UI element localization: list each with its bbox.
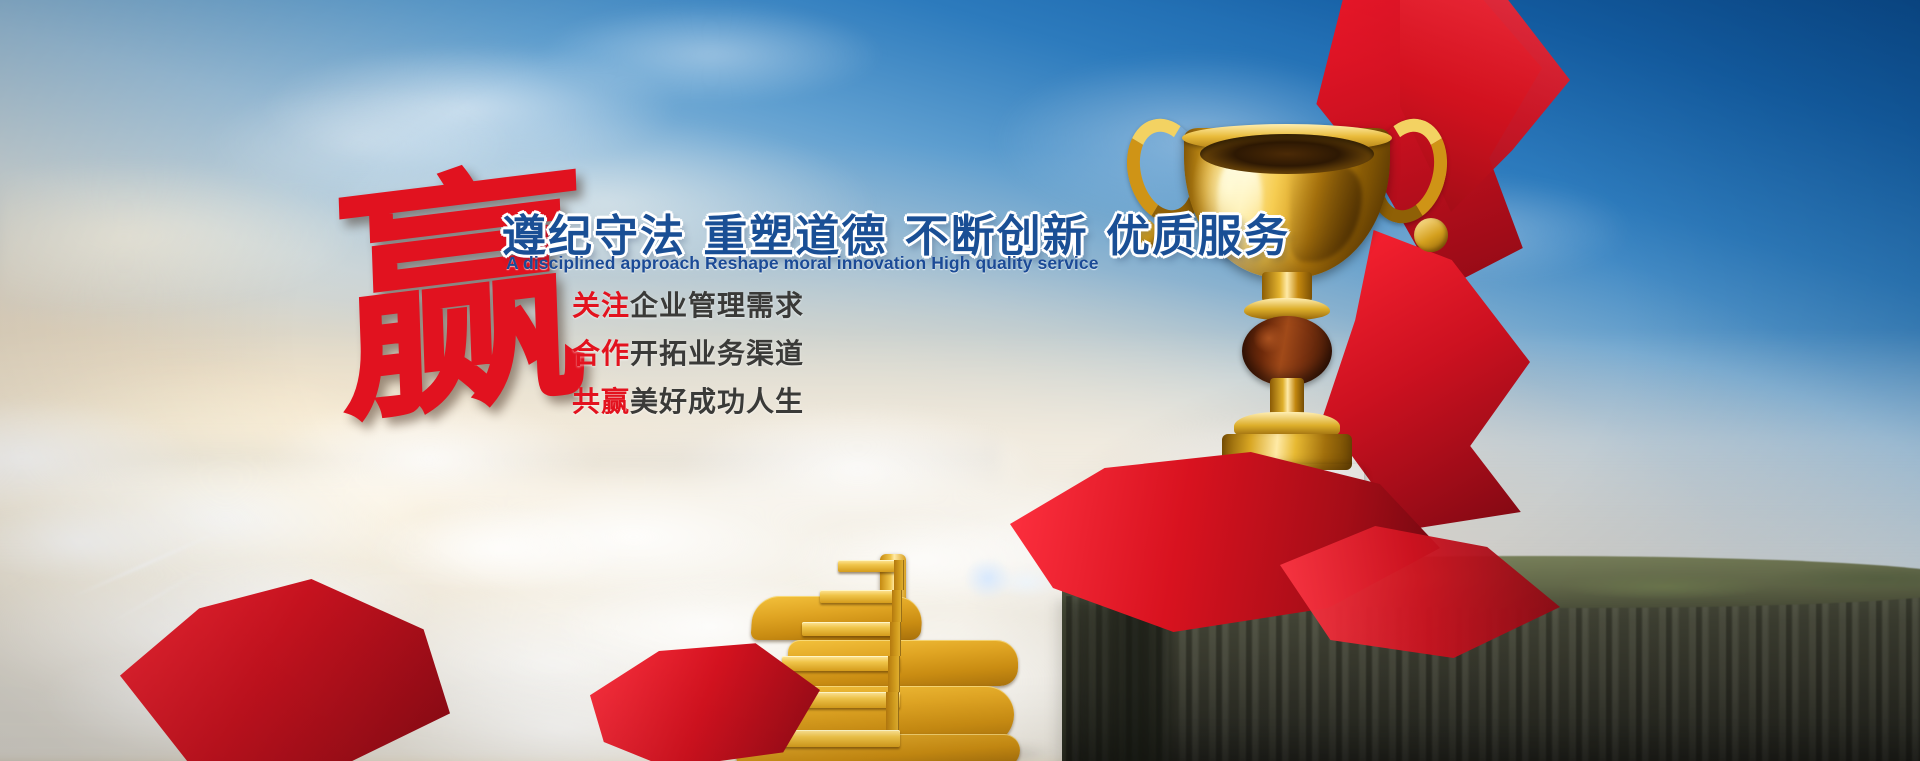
staircase-riser [888,656,900,692]
slogan-text: 美好成功人生 [630,385,804,418]
slogan-text: 企业管理需求 [630,289,804,322]
staircase-riser [890,622,901,656]
slogan-highlight: 共赢 [572,385,630,418]
staircase-tread [782,656,900,671]
staircase-tread [802,622,900,636]
page-subtitle: A disciplined approach Reshape moral inn… [506,253,1099,274]
slogan-highlight: 关注 [572,289,630,322]
promotional-banner: 赢 遵纪守法 重塑道德 不断创新 优质服务 A disciplined appr… [0,0,1920,761]
trophy-icon [1122,112,1452,492]
trophy-sphere [1242,316,1332,386]
staircase-tread [838,560,902,572]
list-item: 共赢美好成功人生 [572,378,804,426]
staircase-tread [742,730,900,747]
rock-plateau-top [1078,556,1920,608]
staircase-riser [886,692,899,730]
dollar-staircase-icon [742,508,1072,761]
trophy-bowl-interior [1200,134,1374,174]
red-ribbon-left [120,558,450,761]
lens-flare-streak-2 [104,566,209,628]
slogan-highlight: 合作 [572,337,630,370]
staircase-riser [892,590,902,622]
slogan-text: 开拓业务渠道 [630,337,804,370]
trophy-base-bottom [1210,464,1364,490]
staircase-tread [760,692,900,708]
list-item: 合作开拓业务渠道 [572,330,804,378]
staircase-tread [820,590,900,603]
list-item: 关注企业管理需求 [572,282,804,330]
lens-flare-streak-1 [69,524,235,600]
trophy-handle-curl-right [1414,218,1448,252]
rock-striations [1066,596,1920,761]
slogan-list: 关注企业管理需求 合作开拓业务渠道 共赢美好成功人生 [572,282,804,426]
staircase-riser [894,560,904,590]
